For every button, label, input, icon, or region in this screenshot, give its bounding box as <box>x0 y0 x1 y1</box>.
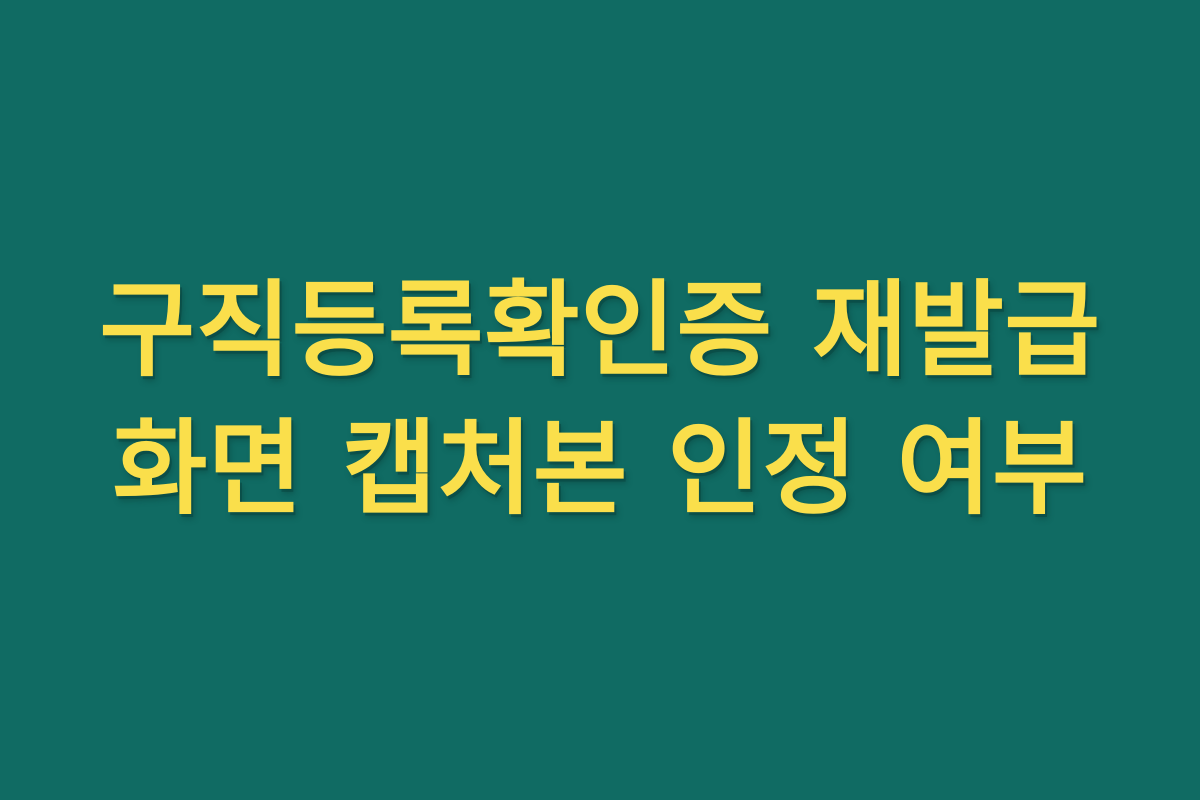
title-line-2: 화면 캡처본 인정 여부 <box>40 400 1160 537</box>
title-card-canvas: 구직등록확인증 재발급 화면 캡처본 인정 여부 <box>0 0 1200 800</box>
title-text-block: 구직등록확인증 재발급 화면 캡처본 인정 여부 <box>0 263 1200 537</box>
title-line-1: 구직등록확인증 재발급 <box>40 263 1160 400</box>
